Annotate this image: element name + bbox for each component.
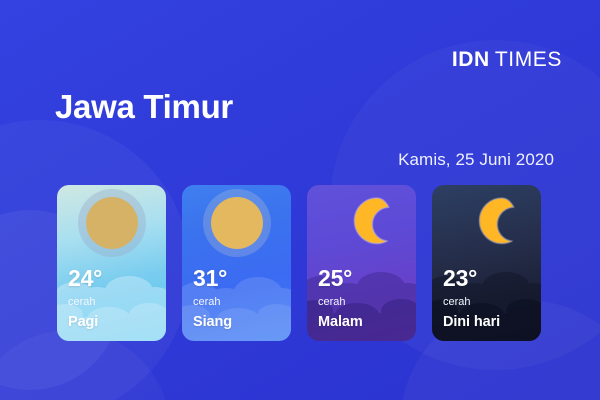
sun-icon — [86, 197, 138, 249]
period-label: Pagi — [68, 315, 102, 330]
crescent-moon-icon — [334, 193, 394, 253]
condition-label: cerah — [318, 297, 363, 308]
forecast-date: Kamis, 25 Juni 2020 — [398, 150, 554, 170]
temperature-value: 25° — [318, 267, 363, 290]
card-text-block: 25° cerah Malam — [318, 267, 363, 330]
condition-label: cerah — [68, 297, 102, 308]
card-text-block: 23° cerah Dini hari — [443, 267, 500, 330]
forecast-card[interactable]: 23° cerah Dini hari — [432, 185, 541, 341]
page-title: Jawa Timur — [55, 88, 233, 126]
period-label: Siang — [193, 315, 232, 330]
period-label: Dini hari — [443, 315, 500, 330]
crescent-moon-icon — [459, 193, 519, 253]
condition-label: cerah — [443, 297, 500, 308]
condition-label: cerah — [193, 297, 232, 308]
temperature-value: 23° — [443, 267, 500, 290]
card-text-block: 31° cerah Siang — [193, 267, 232, 330]
logo-idn-text: IDN — [452, 48, 490, 71]
logo-times-text: TIMES — [495, 48, 562, 71]
idn-times-logo: IDNTIMES — [452, 48, 562, 72]
temperature-value: 24° — [68, 267, 102, 290]
sun-icon — [211, 197, 263, 249]
forecast-card[interactable]: 31° cerah Siang — [182, 185, 291, 341]
temperature-value: 31° — [193, 267, 232, 290]
forecast-card-list: 24° cerah Pagi — [57, 185, 541, 341]
forecast-card[interactable]: 25° cerah Malam — [307, 185, 416, 341]
period-label: Malam — [318, 315, 363, 330]
card-text-block: 24° cerah Pagi — [68, 267, 102, 330]
weather-infographic: IDNTIMES Jawa Timur Kamis, 25 Juni 2020 — [0, 0, 600, 400]
forecast-card[interactable]: 24° cerah Pagi — [57, 185, 166, 341]
